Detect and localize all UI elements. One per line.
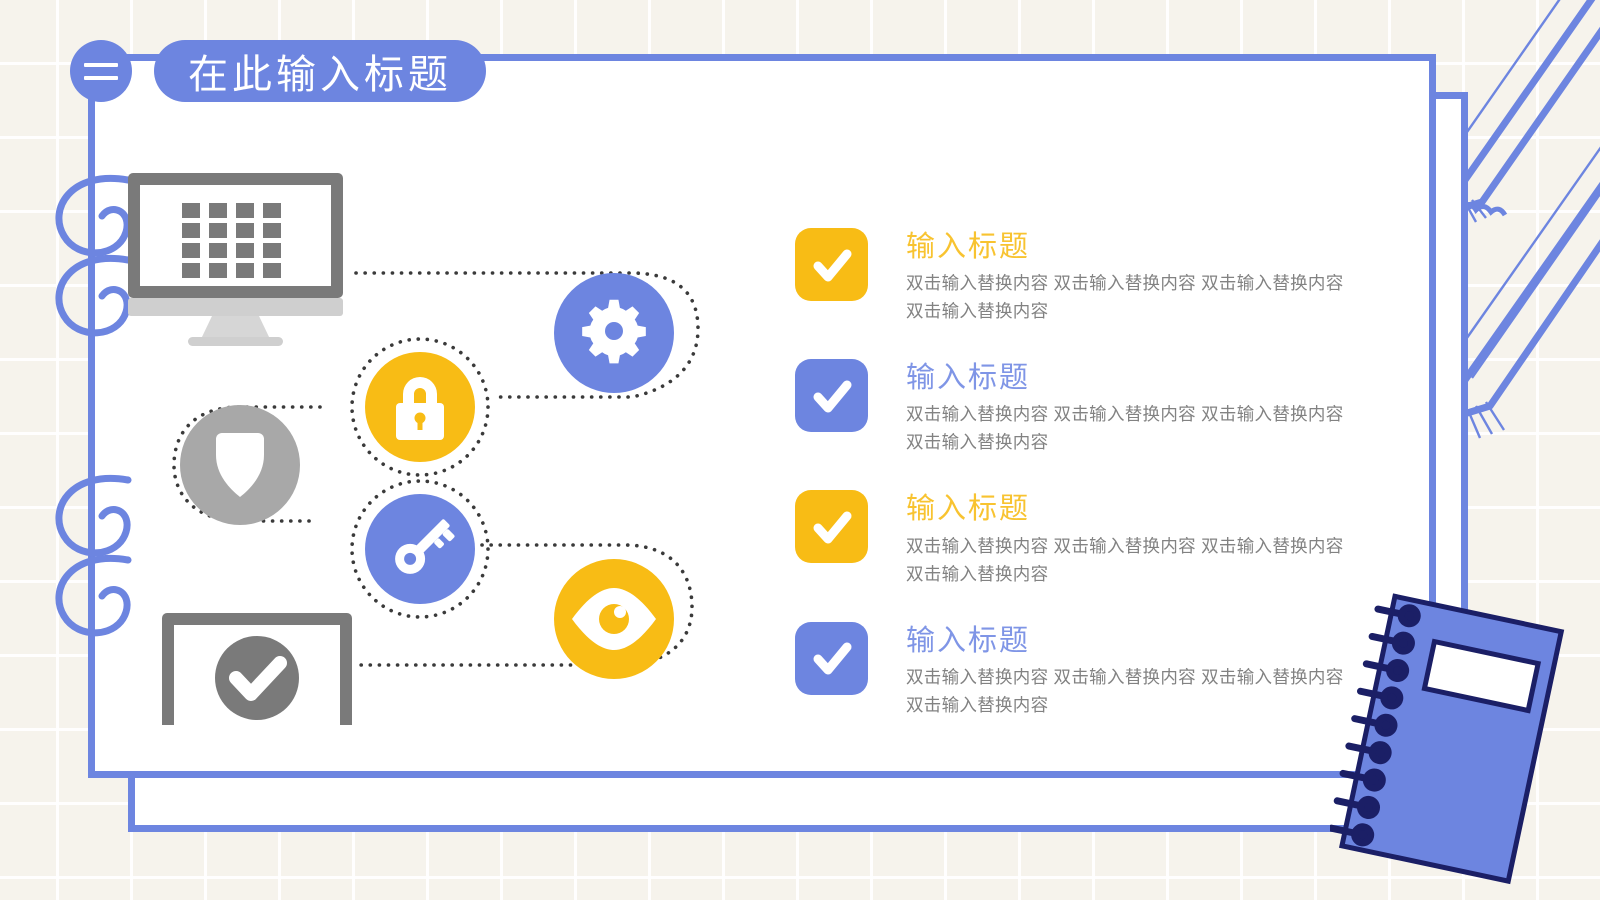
list-item-text: 输入标题 双击输入替换内容 双击输入替换内容 双击输入替换内容 双击输入替换内容	[906, 622, 1358, 719]
eye-icon	[554, 559, 674, 679]
list-item[interactable]: 输入标题 双击输入替换内容 双击输入替换内容 双击输入替换内容 双击输入替换内容	[795, 622, 1375, 719]
list-item[interactable]: 输入标题 双击输入替换内容 双击输入替换内容 双击输入替换内容 双击输入替换内容	[795, 490, 1375, 587]
slide-header: 在此输入标题	[70, 40, 486, 102]
list-item-body: 双击输入替换内容 双击输入替换内容 双击输入替换内容 双击输入替换内容	[906, 532, 1358, 588]
list-item-text: 输入标题 双击输入替换内容 双击输入替换内容 双击输入替换内容 双击输入替换内容	[906, 228, 1358, 325]
badge-line-bottom	[84, 76, 118, 80]
list-item-text: 输入标题 双击输入替换内容 双击输入替换内容 双击输入替换内容 双击输入替换内容	[906, 359, 1358, 456]
feature-list: 输入标题 双击输入替换内容 双击输入替换内容 双击输入替换内容 双击输入替换内容…	[795, 228, 1375, 753]
list-item-title: 输入标题	[906, 624, 1358, 658]
check-icon[interactable]	[795, 359, 868, 432]
key-icon	[365, 494, 475, 604]
list-item[interactable]: 输入标题 双击输入替换内容 双击输入替换内容 双击输入替换内容 双击输入替换内容	[795, 359, 1375, 456]
list-item-body: 双击输入替换内容 双击输入替换内容 双击输入替换内容 双击输入替换内容	[906, 269, 1358, 325]
list-item-body: 双击输入替换内容 双击输入替换内容 双击输入替换内容 双击输入替换内容	[906, 663, 1358, 719]
shield-icon	[180, 405, 300, 525]
list-item[interactable]: 输入标题 双击输入替换内容 双击输入替换内容 双击输入替换内容 双击输入替换内容	[795, 228, 1375, 325]
laptop-check-icon	[122, 613, 392, 725]
badge-line-top	[84, 63, 118, 67]
list-item-title: 输入标题	[906, 492, 1358, 526]
check-icon[interactable]	[795, 622, 868, 695]
page-title: 在此输入标题	[154, 40, 486, 102]
security-flow-illustration	[120, 125, 740, 725]
list-item-text: 输入标题 双击输入替换内容 双击输入替换内容 双击输入替换内容 双击输入替换内容	[906, 490, 1358, 587]
check-icon[interactable]	[795, 490, 868, 563]
list-item-title: 输入标题	[906, 230, 1358, 264]
section-number-badge	[70, 40, 132, 102]
list-item-body: 双击输入替换内容 双击输入替换内容 双击输入替换内容 双击输入替换内容	[906, 400, 1358, 456]
monitor-grid-icon	[128, 173, 343, 346]
lock-icon	[365, 352, 475, 462]
list-item-title: 输入标题	[906, 361, 1358, 395]
check-icon[interactable]	[795, 228, 868, 301]
gear-icon	[554, 273, 674, 393]
